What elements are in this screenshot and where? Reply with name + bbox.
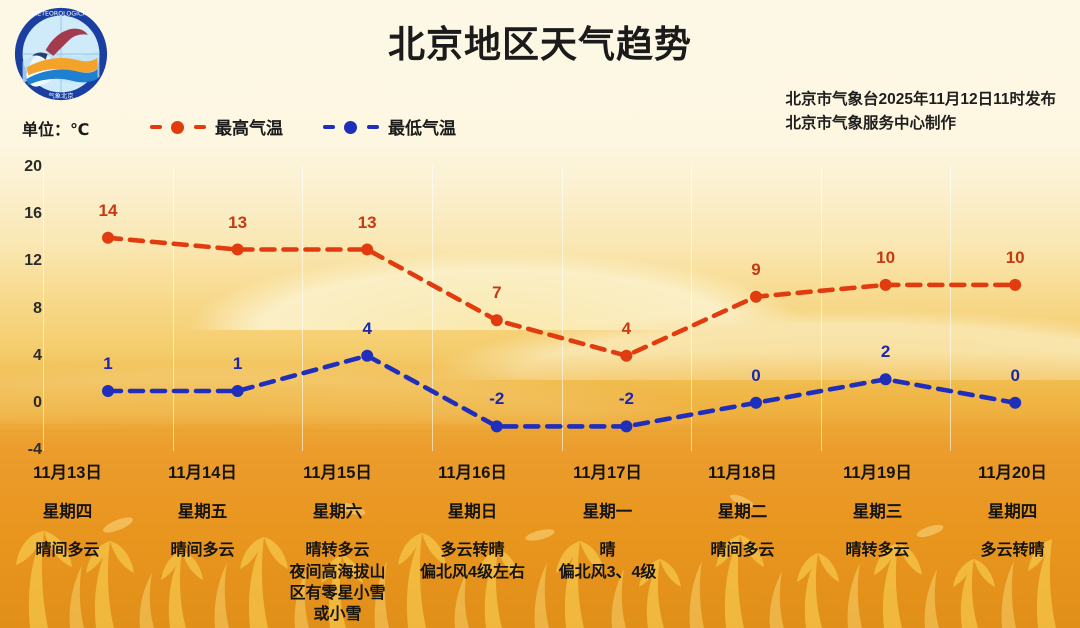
- point-label-low-5: 0: [751, 366, 760, 386]
- day-column-6[interactable]: 11月19日星期三晴转多云: [810, 459, 945, 628]
- point-label-high-0: 14: [99, 201, 118, 221]
- day-date: 11月17日: [540, 463, 675, 484]
- day-date: 11月18日: [675, 463, 810, 484]
- data-point-high-5: [750, 291, 762, 303]
- data-point-low-6: [880, 373, 892, 385]
- day-column-0[interactable]: 11月13日星期四晴间多云: [0, 459, 135, 628]
- day-column-4[interactable]: 11月17日星期一晴 偏北风3、4级: [540, 459, 675, 628]
- day-weekday: 星期二: [675, 502, 810, 523]
- day-condition: 晴 偏北风3、4级: [540, 540, 675, 583]
- data-point-low-0: [102, 385, 114, 397]
- day-condition: 晴转多云 夜间高海拔山 区有零星小雪 或小雪: [270, 540, 405, 625]
- point-label-low-7: 0: [1010, 366, 1019, 386]
- day-date: 11月19日: [810, 463, 945, 484]
- day-condition: 晴间多云: [675, 540, 810, 561]
- day-condition: 多云转晴 偏北风4级左右: [405, 540, 540, 583]
- point-label-low-3: -2: [489, 389, 504, 409]
- day-weekday: 星期一: [540, 502, 675, 523]
- point-label-high-2: 13: [358, 213, 377, 233]
- day-date: 11月16日: [405, 463, 540, 484]
- point-label-low-1: 1: [233, 354, 242, 374]
- day-weekday: 星期日: [405, 502, 540, 523]
- day-column-3[interactable]: 11月16日星期日多云转晴 偏北风4级左右: [405, 459, 540, 628]
- day-column-7[interactable]: 11月20日星期四多云转晴: [945, 459, 1080, 628]
- data-point-low-7: [1009, 397, 1021, 409]
- data-point-low-3: [491, 420, 503, 432]
- data-point-high-1: [232, 244, 244, 256]
- day-weekday: 星期四: [945, 502, 1080, 523]
- series-line-low: [108, 356, 1015, 427]
- point-label-low-0: 1: [103, 354, 112, 374]
- day-column-1[interactable]: 11月14日星期五晴间多云: [135, 459, 270, 628]
- point-label-high-3: 7: [492, 283, 501, 303]
- data-point-low-1: [232, 385, 244, 397]
- point-label-high-1: 13: [228, 213, 247, 233]
- day-condition: 晴转多云: [810, 540, 945, 561]
- point-label-high-4: 4: [622, 319, 631, 339]
- day-date: 11月15日: [270, 463, 405, 484]
- day-condition: 晴间多云: [0, 540, 135, 561]
- day-weekday: 星期六: [270, 502, 405, 523]
- data-point-high-3: [491, 314, 503, 326]
- data-point-high-0: [102, 232, 114, 244]
- day-date: 11月14日: [135, 463, 270, 484]
- day-condition: 多云转晴: [945, 540, 1080, 561]
- day-date: 11月20日: [945, 463, 1080, 484]
- point-label-high-5: 9: [751, 260, 760, 280]
- data-point-low-5: [750, 397, 762, 409]
- weather-trend-infographic: METEOROLOGICAL 气象北京 北京地区天气趋势 北京市气象台2025年…: [0, 0, 1080, 628]
- data-point-low-4: [620, 420, 632, 432]
- day-date: 11月13日: [0, 463, 135, 484]
- data-point-high-7: [1009, 279, 1021, 291]
- day-column-5[interactable]: 11月18日星期二晴间多云: [675, 459, 810, 628]
- point-label-low-4: -2: [619, 389, 634, 409]
- day-weekday: 星期四: [0, 502, 135, 523]
- data-point-high-4: [620, 350, 632, 362]
- point-label-high-6: 10: [876, 248, 895, 268]
- point-label-low-2: 4: [362, 319, 371, 339]
- day-condition: 晴间多云: [135, 540, 270, 561]
- point-label-low-6: 2: [881, 342, 890, 362]
- day-column-2[interactable]: 11月15日星期六晴转多云 夜间高海拔山 区有零星小雪 或小雪: [270, 459, 405, 628]
- point-label-high-7: 10: [1006, 248, 1025, 268]
- x-axis-day-columns: 11月13日星期四晴间多云11月14日星期五晴间多云11月15日星期六晴转多云 …: [0, 459, 1080, 628]
- day-weekday: 星期三: [810, 502, 945, 523]
- data-point-low-2: [361, 350, 373, 362]
- data-point-high-6: [880, 279, 892, 291]
- day-weekday: 星期五: [135, 502, 270, 523]
- data-point-high-2: [361, 244, 373, 256]
